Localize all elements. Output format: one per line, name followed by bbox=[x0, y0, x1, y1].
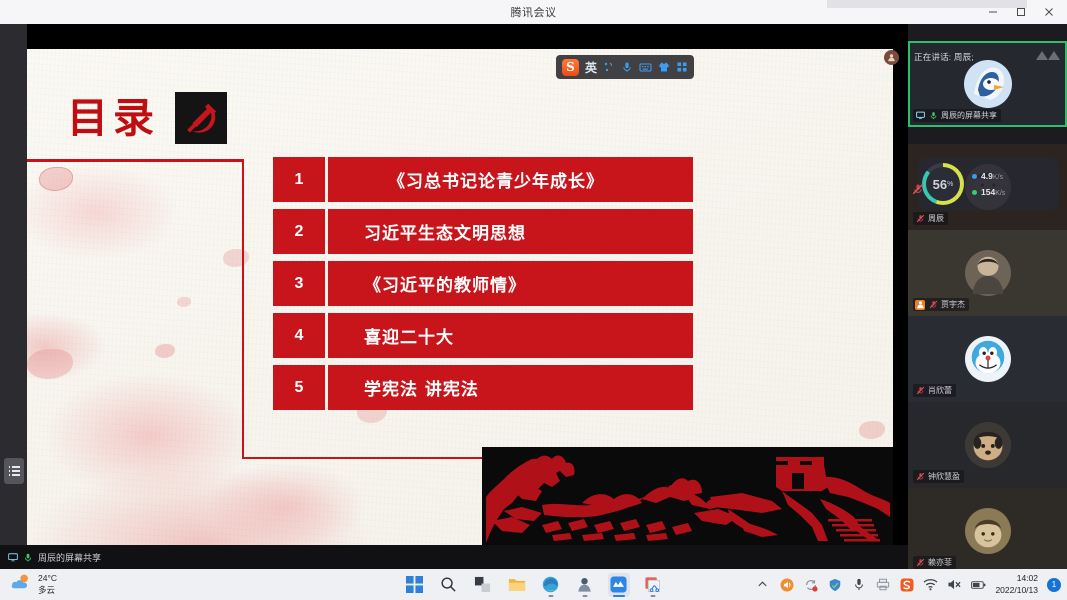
toc-item-label: 习近平生态文明思想 bbox=[328, 209, 693, 254]
close-button[interactable] bbox=[1035, 0, 1063, 24]
snipping-tool-button[interactable] bbox=[642, 573, 664, 597]
sogou-icon[interactable] bbox=[899, 577, 914, 592]
load-gauge-ring: 56% bbox=[922, 163, 964, 205]
participant-name-badge: 贾宇杰 bbox=[913, 298, 969, 311]
toc-item: 1 《习总书记论青少年成长》 bbox=[273, 157, 693, 202]
avatar bbox=[965, 422, 1011, 468]
participant-tile[interactable]: 贾宇杰 bbox=[908, 230, 1067, 316]
toc-item-label: 学宪法 讲宪法 bbox=[328, 365, 693, 410]
slide-title: 目录 bbox=[67, 98, 159, 139]
sogou-logo-icon[interactable]: S bbox=[562, 59, 579, 76]
participant-name: 周辰的屏幕共享 bbox=[941, 110, 997, 121]
microphone-icon[interactable] bbox=[851, 577, 866, 592]
shared-slide: 目录 1 《习总 bbox=[27, 49, 893, 545]
frame-vertical-line bbox=[242, 159, 244, 459]
toc-item: 4 喜迎二十大 bbox=[273, 313, 693, 358]
microphone-icon[interactable] bbox=[621, 61, 633, 73]
apps-icon[interactable] bbox=[676, 61, 688, 73]
monitor-icon bbox=[915, 111, 925, 121]
load-gauge-value: 56% bbox=[926, 167, 960, 201]
participant-rail: 正在讲话: 周辰; 周辰的屏幕共享 bbox=[908, 24, 1067, 569]
screen: 腾讯会议 bbox=[0, 0, 1067, 600]
toc-item: 2 习近平生态文明思想 bbox=[273, 209, 693, 254]
participant-tile[interactable]: 钟欣慧盈 bbox=[908, 402, 1067, 488]
start-button[interactable] bbox=[404, 573, 426, 597]
toc-item-number: 5 bbox=[273, 365, 328, 410]
edge-button[interactable] bbox=[540, 573, 562, 597]
participant-name: 赖亦菲 bbox=[928, 557, 952, 568]
weather-temperature: 24°C bbox=[38, 573, 57, 584]
toc-item-number: 2 bbox=[273, 209, 328, 254]
screen-share-banner: 周辰的屏幕共享 bbox=[0, 545, 908, 569]
weather-icon bbox=[10, 573, 32, 596]
punctuation-icon[interactable] bbox=[603, 61, 615, 73]
wifi-icon[interactable] bbox=[923, 577, 938, 592]
participant-name: 周辰 bbox=[928, 213, 944, 224]
avatar bbox=[965, 508, 1011, 554]
upload-icon bbox=[972, 174, 977, 179]
participant-name: 肖欣蕾 bbox=[928, 385, 952, 396]
window-title: 腾讯会议 bbox=[511, 4, 557, 20]
participant-name: 贾宇杰 bbox=[941, 299, 965, 310]
petal-decoration bbox=[177, 297, 191, 307]
meeting-window: 目录 1 《习总 bbox=[0, 24, 1067, 569]
petal-decoration bbox=[39, 167, 73, 191]
mute-icon[interactable] bbox=[947, 577, 962, 592]
active-speaker-avatar bbox=[884, 50, 899, 65]
muted-microphone-icon bbox=[915, 472, 925, 482]
toc-item-label: 《习总书记论青少年成长》 bbox=[328, 157, 693, 202]
petal-decoration bbox=[155, 344, 175, 358]
petal-decoration bbox=[223, 249, 249, 267]
sogou-ime-toolbar[interactable]: S 英 bbox=[556, 55, 694, 79]
weather-text: 24°C 多云 bbox=[38, 573, 57, 596]
minimize-button[interactable] bbox=[979, 0, 1007, 24]
participant-name-badge: 周辰的屏幕共享 bbox=[913, 109, 1001, 122]
shield-icon[interactable] bbox=[827, 577, 842, 592]
taskbar-clock[interactable]: 14:02 2022/10/13 bbox=[995, 573, 1038, 596]
system-tray: 14:02 2022/10/13 1 bbox=[755, 573, 1061, 596]
task-view-button[interactable] bbox=[472, 573, 494, 597]
toc-item-label: 喜迎二十大 bbox=[328, 313, 693, 358]
toc-list: 1 《习总书记论青少年成长》 2 习近平生态文明思想 3 《习近平的教师情》 4… bbox=[273, 157, 693, 417]
screen-share-label: 周辰的屏幕共享 bbox=[38, 551, 101, 564]
monitor-icon bbox=[8, 552, 18, 562]
window-title-bar: 腾讯会议 bbox=[0, 0, 1067, 24]
participant-name-badge: 赖亦菲 bbox=[913, 556, 956, 569]
toc-item-number: 1 bbox=[273, 157, 328, 202]
upload-rate-unit: K/s bbox=[993, 174, 1003, 181]
clock-time: 14:02 bbox=[995, 573, 1038, 584]
windows-taskbar: 24°C 多云 bbox=[0, 569, 1067, 600]
muted-microphone-icon bbox=[915, 214, 925, 224]
sync-icon[interactable] bbox=[803, 577, 818, 592]
notification-badge[interactable]: 1 bbox=[1047, 578, 1061, 592]
load-percent: 56 bbox=[933, 177, 947, 192]
load-percent-unit: % bbox=[947, 181, 953, 188]
weather-condition: 多云 bbox=[38, 585, 57, 596]
file-explorer-button[interactable] bbox=[506, 573, 528, 597]
maximize-button[interactable] bbox=[1007, 0, 1035, 24]
speaker-wave-icon bbox=[1035, 48, 1061, 67]
muted-microphone-icon bbox=[912, 182, 924, 200]
microphone-icon bbox=[23, 552, 33, 562]
printer-icon[interactable] bbox=[875, 577, 890, 592]
participant-tile[interactable]: 赖亦菲 bbox=[908, 488, 1067, 574]
taskbar-app-area bbox=[404, 573, 664, 597]
network-rates: 4.9K/s 154K/s bbox=[972, 168, 1005, 201]
chevron-up-icon[interactable] bbox=[755, 577, 770, 592]
weather-widget[interactable]: 24°C 多云 bbox=[10, 573, 57, 596]
search-button[interactable] bbox=[438, 573, 460, 597]
toc-item-label: 《习近平的教师情》 bbox=[328, 261, 693, 306]
presenter-menu-icon[interactable] bbox=[4, 458, 24, 484]
download-rate: 154 bbox=[981, 187, 995, 197]
raise-hand-icon bbox=[915, 300, 925, 310]
muted-microphone-icon bbox=[915, 558, 925, 568]
battery-icon[interactable] bbox=[971, 577, 986, 592]
participant-name: 钟欣慧盈 bbox=[928, 471, 960, 482]
window-controls bbox=[979, 0, 1063, 24]
great-wall-papercut-icon bbox=[482, 447, 893, 545]
contacts-button[interactable] bbox=[574, 573, 596, 597]
toc-item-number: 3 bbox=[273, 261, 328, 306]
upload-rate: 4.9 bbox=[981, 171, 993, 181]
participant-tile[interactable]: 肖欣蕾 bbox=[908, 316, 1067, 402]
avatar bbox=[965, 250, 1011, 296]
participant-name-badge: 肖欣蕾 bbox=[913, 384, 956, 397]
muted-microphone-icon bbox=[928, 300, 938, 310]
microphone-icon bbox=[928, 111, 938, 121]
party-emblem-icon bbox=[175, 92, 227, 144]
toc-item: 3 《习近平的教师情》 bbox=[273, 261, 693, 306]
petal-decoration bbox=[27, 349, 73, 379]
avatar bbox=[965, 336, 1011, 382]
download-icon bbox=[972, 190, 977, 195]
participant-name-badge: 钟欣慧盈 bbox=[913, 470, 964, 483]
volume-icon[interactable] bbox=[779, 577, 794, 592]
avatar bbox=[964, 60, 1012, 108]
network-monitor-widget[interactable]: 56% 4.9K/s 154K/s bbox=[918, 158, 1058, 210]
download-rate-unit: K/s bbox=[995, 190, 1005, 197]
skin-icon[interactable] bbox=[658, 61, 670, 73]
muted-microphone-icon bbox=[915, 386, 925, 396]
ime-language-mode[interactable]: 英 bbox=[585, 59, 597, 76]
upload-rate-row: 4.9K/s bbox=[972, 168, 1005, 184]
download-rate-row: 154K/s bbox=[972, 184, 1005, 200]
participant-name-badge: 周辰 bbox=[913, 212, 948, 225]
tencent-meeting-button[interactable] bbox=[608, 573, 630, 597]
clock-date: 2022/10/13 bbox=[995, 585, 1038, 596]
title-underline bbox=[27, 159, 243, 162]
toc-item-number: 4 bbox=[273, 313, 328, 358]
toc-item: 5 学宪法 讲宪法 bbox=[273, 365, 693, 410]
petal-decoration bbox=[859, 421, 885, 439]
presenter-left-strip bbox=[0, 24, 27, 545]
keyboard-icon[interactable] bbox=[639, 61, 652, 73]
